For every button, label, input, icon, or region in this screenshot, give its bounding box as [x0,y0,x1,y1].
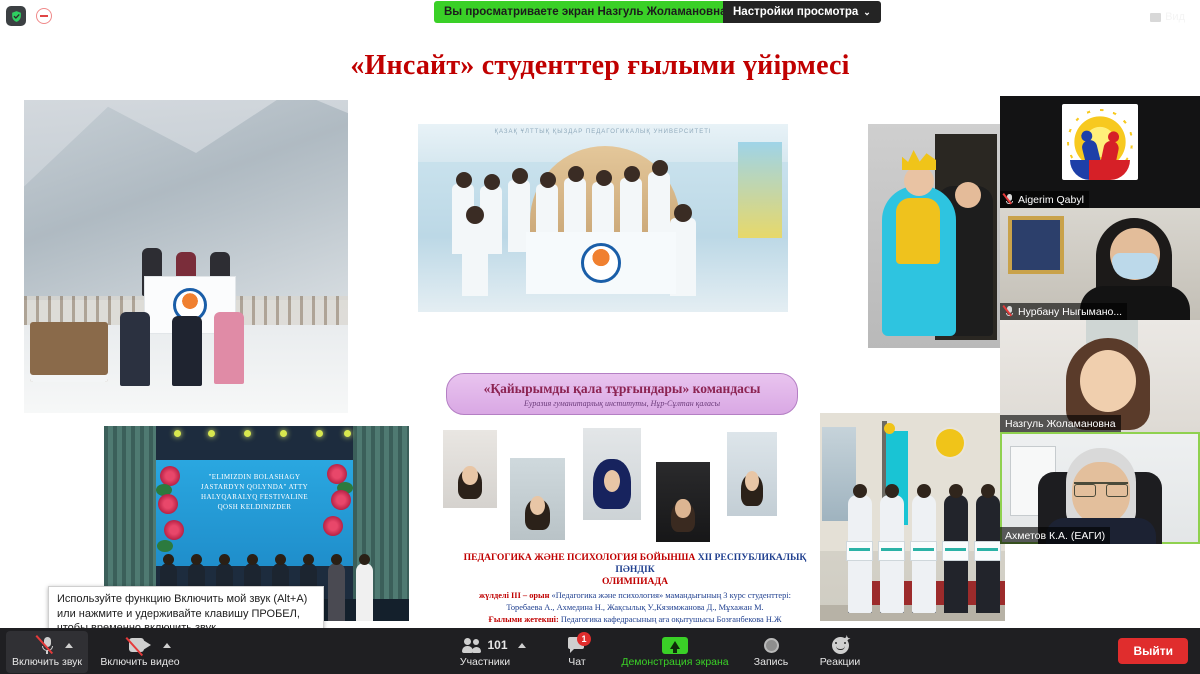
stage-screen-text: "ELIMIZDIN BOLASHAGY JASTARDYN QOLYNDA" … [156,472,353,512]
share-screen-icon [662,637,688,654]
shield-icon[interactable] [6,6,26,26]
photo-snow-mountain-group [24,100,348,413]
participant-name-bar: Назгуль Жоламановна [1000,415,1121,432]
unmute-audio-button[interactable]: Включить звук [6,631,88,673]
view-options-button[interactable]: Настройки просмотра⌄ [723,1,881,23]
chevron-down-icon: ⌄ [863,7,871,17]
group-photo-wall-text: ҚАЗАҚ ҰЛТТЫҚ ҚЫЗДАР ПЕДАГОГИКАЛЫҚ УНИВЕР… [418,129,788,135]
participant-tile-nazgul[interactable]: Назгуль Жоламановна [1000,320,1200,432]
participants-count: 101 [487,638,507,652]
start-video-label: Включить видео [100,656,179,668]
microphone-muted-icon [39,636,55,654]
participant-video-strip: Aigerim Qabyl Нурбану Ныгымано... Назгул… [1000,96,1200,544]
chat-label: Чат [568,656,585,668]
reactions-button[interactable]: ✦ Реакции [808,631,872,673]
reactions-label: Реакции [820,656,861,668]
slide-title: «Инсайт» студенттер ғылыми үйірмесі [0,50,1200,82]
portrait-row [437,426,807,544]
reactions-icon: ✦ [832,637,849,654]
olympiad-heading-1: ПЕДАГОГИКА ЖӘНЕ ПСИХОЛОГИЯ БОЙЫНША [464,552,696,563]
chat-icon: 1 [568,637,586,653]
camera-off-icon [129,638,151,652]
chat-button[interactable]: 1 Чат [549,631,605,673]
meeting-toolbar: Включить звук Включить видео 101 Участни… [0,628,1200,674]
photo-traditional-dancers [868,124,1003,348]
participant-name-bar: Ахметов К.А. (ЕАГИ) [1000,527,1110,544]
participants-label: Участники [460,656,510,668]
participant-name: Ахметов К.А. (ЕАГИ) [1005,530,1105,542]
start-video-button[interactable]: Включить видео [94,631,186,673]
photo-group-with-banner: ҚАЗАҚ ҰЛТТЫҚ ҚЫЗДАР ПЕДАГОГИКАЛЫҚ УНИВЕР… [418,124,788,312]
portrait-2 [510,458,565,540]
olympiad-result-prefix: жүлделі III – орын [479,591,549,600]
audio-options-chevron-up-icon[interactable] [65,643,73,648]
video-options-chevron-up-icon[interactable] [163,643,171,648]
share-screen-label: Демонстрация экрана [621,656,728,668]
record-button[interactable]: Запись [742,631,800,673]
participants-button[interactable]: 101 Участники [447,631,523,673]
participant-avatar-logo [1062,104,1138,180]
screen-share-notice: Вы просматриваете экран Назгуль Жоламано… [434,1,736,23]
olympiad-text-block: ПЕДАГОГИКА ЖӘНЕ ПСИХОЛОГИЯ БОЙЫНША XII Р… [450,552,820,626]
portrait-1 [443,430,497,508]
participant-tile-aigerim-qabyl[interactable]: Aigerim Qabyl [1000,96,1200,208]
olympiad-heading-2: ОЛИМПИАДА [450,576,820,588]
participant-name: Нурбану Ныгымано... [1018,306,1122,318]
olympiad-advisor-text: Педагогика кафедрасының аға оқытушысы Бо… [561,615,782,624]
participant-tile-nurbanu[interactable]: Нурбану Ныгымано... [1000,208,1200,320]
portrait-4 [656,462,710,542]
unmute-audio-label: Включить звук [12,656,82,668]
portrait-3 [583,428,641,520]
participant-name-bar: Aigerim Qabyl [1000,191,1089,208]
team-banner: «Қайырымды қала тұрғындары» командасы Еу… [446,373,798,415]
team-banner-subtitle: Еуразия гуманитарлық институты, Нұр-Сұлт… [524,399,720,408]
chat-unread-badge: 1 [577,632,591,646]
olympiad-students: Торебаева А., Ахмедина Н., Жақсылық У.,К… [450,602,820,614]
participants-icon [462,638,482,652]
photo-award-ceremony [820,413,1005,621]
microphone-muted-icon [1005,194,1014,205]
microphone-muted-icon [1005,306,1014,317]
zoom-meeting-window: Вы просматриваете экран Назгуль Жоламано… [0,0,1200,674]
view-button[interactable]: Вид [1143,7,1192,27]
view-options-label: Настройки просмотра [733,6,858,18]
recording-indicator-icon[interactable] [36,8,52,24]
view-button-label: Вид [1165,11,1185,23]
record-icon [764,638,779,653]
leave-meeting-button[interactable]: Выйти [1118,638,1188,664]
olympiad-advisor-label: Ғылыми жетекші: [489,615,559,624]
share-screen-button[interactable]: Демонстрация экрана [611,631,739,673]
portrait-5 [727,432,777,516]
top-bar: Вы просматриваете экран Назгуль Жоламано… [0,0,1200,28]
team-banner-title: «Қайырымды қала тұрғындары» командасы [484,381,761,397]
participant-name: Назгуль Жоламановна [1005,418,1116,430]
participant-name: Aigerim Qabyl [1018,194,1084,206]
participants-chevron-up-icon[interactable] [518,643,526,648]
participant-name-bar: Нурбану Ныгымано... [1000,303,1127,320]
participant-tile-akhmetov[interactable]: Ахметов К.А. (ЕАГИ) [1000,432,1200,544]
olympiad-result-text: «Педагогика және психология» мамандығыны… [552,591,791,600]
record-label: Запись [754,656,788,668]
grid-view-icon [1150,13,1161,22]
